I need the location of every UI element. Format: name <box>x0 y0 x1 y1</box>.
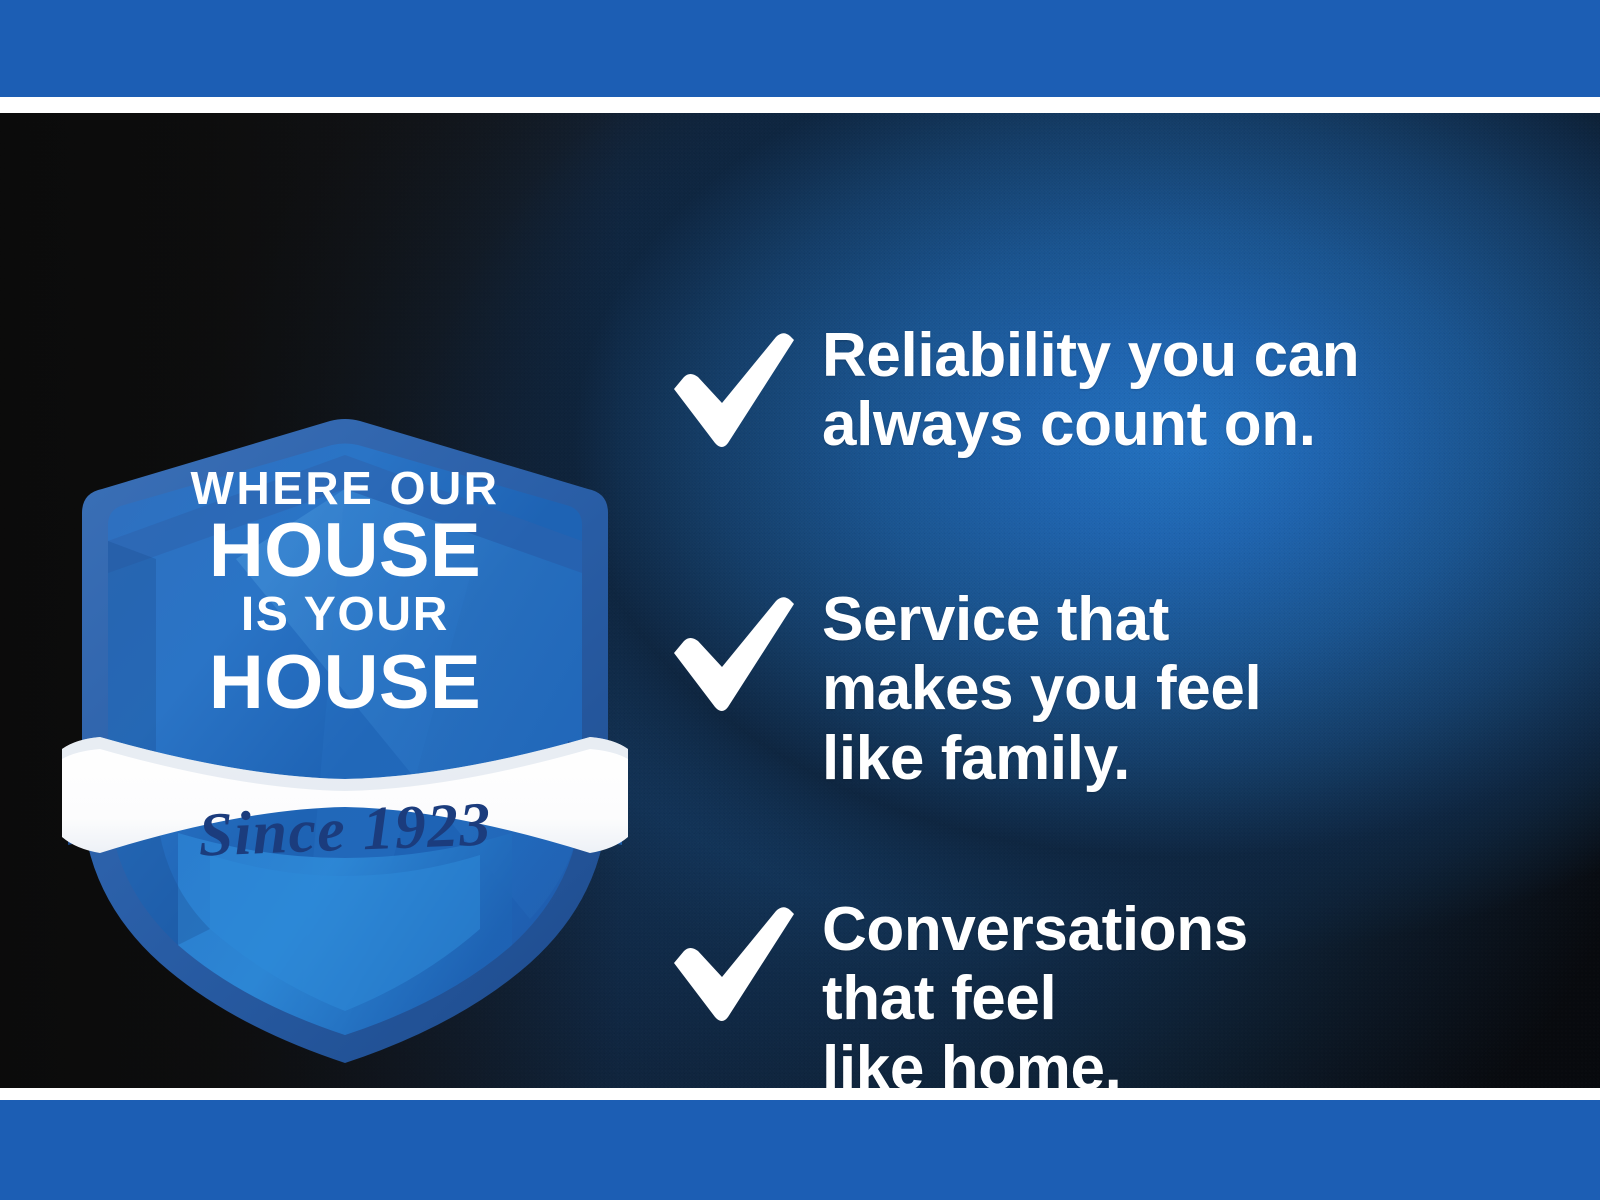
check-icon <box>668 901 798 1025</box>
benefits-list: Reliability you can always count on. Ser… <box>668 313 1528 1088</box>
bottom-white-divider <box>0 1088 1600 1100</box>
list-item-text: Service that makes you feel like family. <box>822 585 1261 793</box>
top-brand-bar <box>0 0 1600 97</box>
list-item: Reliability you can always count on. <box>668 321 1528 460</box>
bottom-brand-bar <box>0 1100 1600 1200</box>
shield-logo: WHERE OUR HOUSE IS YOUR HOUSE Since 1923 <box>60 363 630 1063</box>
top-white-divider <box>0 97 1600 113</box>
check-icon <box>668 327 798 451</box>
main-panel: WHERE OUR HOUSE IS YOUR HOUSE Since 1923… <box>0 113 1600 1088</box>
list-item: Conversations that feel like home. <box>668 895 1528 1088</box>
list-item-text: Reliability you can always count on. <box>822 321 1359 460</box>
check-icon <box>668 591 798 715</box>
promo-graphic-canvas: WHERE OUR HOUSE IS YOUR HOUSE Since 1923… <box>0 0 1600 1200</box>
list-item: Service that makes you feel like family. <box>668 585 1528 793</box>
list-item-text: Conversations that feel like home. <box>822 895 1248 1088</box>
